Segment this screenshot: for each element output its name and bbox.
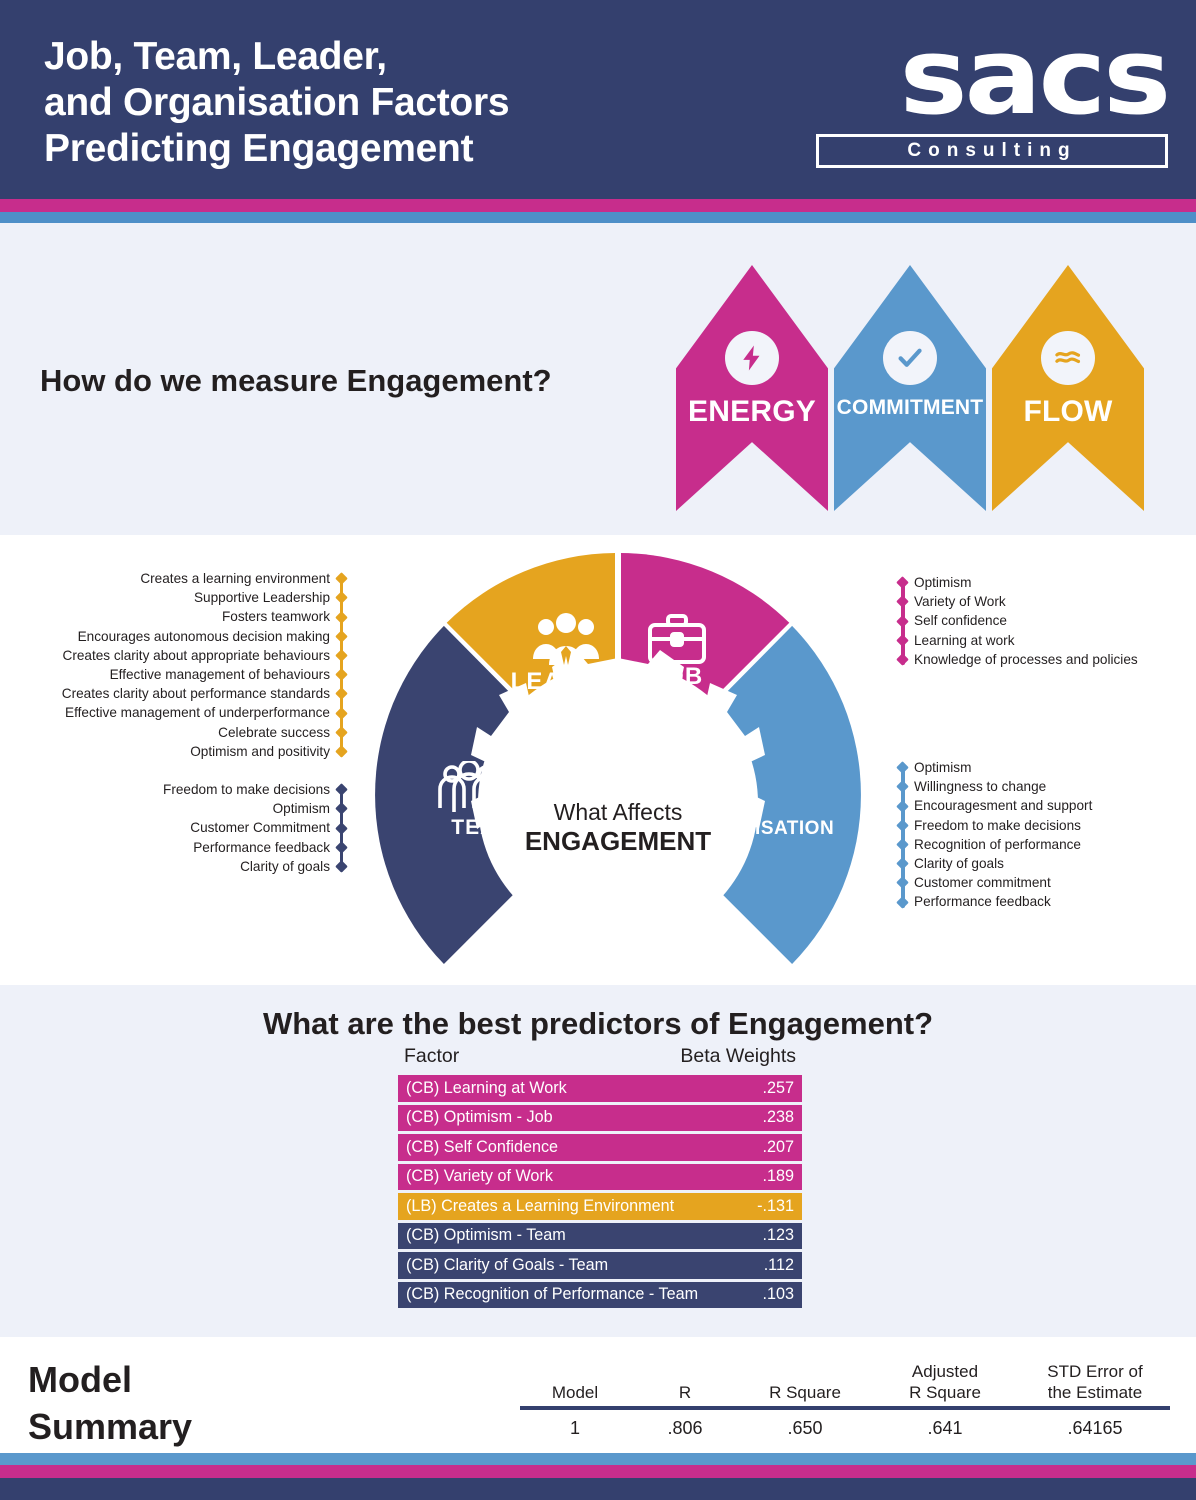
model-column-header: R bbox=[630, 1382, 740, 1403]
sacs-logo: sacs Consulting bbox=[816, 22, 1168, 182]
table-cell-factor: (CB) Optimism - Team bbox=[406, 1226, 566, 1245]
diamond-bullet-icon bbox=[335, 860, 348, 873]
list-item-label: Celebrate success bbox=[218, 723, 330, 742]
team-people-icon bbox=[434, 761, 504, 817]
organisation-factor-list: OptimismWillingness to changeEncouragesm… bbox=[898, 758, 1196, 912]
diamond-bullet-icon bbox=[896, 634, 909, 647]
dimension-energy-label: ENERGY bbox=[688, 397, 816, 427]
table-cell-factor: (CB) Optimism - Job bbox=[406, 1108, 553, 1127]
model-column-header: R Square bbox=[740, 1382, 870, 1403]
list-item-label: Customer commitment bbox=[914, 873, 1051, 892]
list-item-label: Optimism and positivity bbox=[190, 742, 330, 761]
model-value-cell: 1 bbox=[520, 1418, 630, 1439]
check-mark-icon bbox=[883, 331, 937, 385]
diamond-bullet-icon bbox=[335, 726, 348, 739]
list-item-label: Optimism bbox=[273, 799, 330, 818]
list-item: Variety of Work bbox=[898, 592, 1196, 611]
diamond-bullet-icon bbox=[335, 745, 348, 758]
diamond-bullet-icon bbox=[335, 802, 348, 815]
table-row: (CB) Variety of Work.189 bbox=[398, 1164, 802, 1191]
model-summary-label-line: Model bbox=[28, 1356, 308, 1403]
footer-stripe-blue bbox=[0, 1453, 1196, 1465]
diamond-bullet-icon bbox=[335, 611, 348, 624]
list-item-label: Freedom to make decisions bbox=[163, 780, 330, 799]
page-title-line: Job, Team, Leader, bbox=[44, 34, 744, 80]
predictors-table: Factor Beta Weights (CB) Learning at Wor… bbox=[398, 1045, 802, 1311]
diamond-bullet-icon bbox=[896, 800, 909, 813]
what-affects-engagement-section: Creates a learning environmentSupportive… bbox=[0, 535, 1196, 985]
list-item-label: Encourages autonomous decision making bbox=[78, 627, 330, 646]
logo-wordmark: sacs bbox=[788, 22, 1168, 132]
list-item-label: Creates a learning environment bbox=[140, 569, 330, 588]
measure-question: How do we measure Engagement? bbox=[40, 363, 640, 399]
list-item-label: Clarity of goals bbox=[240, 857, 330, 876]
best-predictors-section: What are the best predictors of Engageme… bbox=[0, 985, 1196, 1337]
model-value-cell: .806 bbox=[630, 1418, 740, 1439]
list-item-label: Optimism bbox=[914, 758, 971, 777]
header-stripe-magenta bbox=[0, 199, 1196, 212]
table-cell-beta: .238 bbox=[762, 1108, 794, 1127]
model-column-header-line: the Estimate bbox=[1020, 1382, 1170, 1403]
diamond-bullet-icon bbox=[335, 783, 348, 796]
model-summary-header-row: ModelRR SquareAdjustedR SquareSTD Error … bbox=[520, 1361, 1170, 1403]
table-cell-factor: (CB) Learning at Work bbox=[406, 1079, 567, 1098]
column-header-factor: Factor bbox=[404, 1045, 459, 1068]
diamond-bullet-icon bbox=[335, 668, 348, 681]
list-item-label: Performance feedback bbox=[914, 892, 1051, 911]
diamond-bullet-icon bbox=[335, 591, 348, 604]
list-item-label: Learning at work bbox=[914, 631, 1015, 650]
model-summary-value-row: 1.806.650.641.64165 bbox=[520, 1418, 1170, 1439]
table-cell-beta: .103 bbox=[762, 1285, 794, 1304]
dimension-commitment-label: COMMITMENT bbox=[837, 397, 984, 418]
list-item: Willingness to change bbox=[898, 777, 1196, 796]
diamond-bullet-icon bbox=[335, 630, 348, 643]
list-item: Creates clarity about appropriate behavi… bbox=[0, 646, 346, 665]
diamond-bullet-icon bbox=[896, 876, 909, 889]
list-item-label: Effective management of behaviours bbox=[110, 665, 330, 684]
list-item-label: Variety of Work bbox=[914, 592, 1006, 611]
list-item-label: Creates clarity about performance standa… bbox=[62, 684, 330, 703]
list-item: Optimism bbox=[0, 799, 346, 818]
table-cell-factor: (CB) Recognition of Performance - Team bbox=[406, 1285, 698, 1304]
table-row: (LB) Creates a Learning Environment-.131 bbox=[398, 1193, 802, 1220]
diamond-bullet-icon bbox=[896, 857, 909, 870]
model-summary-label: ModelSummary bbox=[28, 1356, 308, 1450]
lightning-bolt-icon bbox=[725, 331, 779, 385]
table-row: (CB) Clarity of Goals - Team.112 bbox=[398, 1252, 802, 1279]
list-item: Self confidence bbox=[898, 611, 1196, 630]
list-item-label: Self confidence bbox=[914, 611, 1007, 630]
list-item: Performance feedback bbox=[0, 838, 346, 857]
table-row: (CB) Self Confidence.207 bbox=[398, 1134, 802, 1161]
model-column-header-line: R Square bbox=[740, 1382, 870, 1403]
diamond-bullet-icon bbox=[896, 838, 909, 851]
model-summary-label-line: Summary bbox=[28, 1403, 308, 1450]
list-item-label: Recognition of performance bbox=[914, 835, 1081, 854]
donut-label-job: JOB bbox=[622, 663, 732, 691]
table-cell-beta: .257 bbox=[762, 1079, 794, 1098]
model-column-header: Model bbox=[520, 1382, 630, 1403]
diamond-bullet-icon bbox=[896, 653, 909, 666]
table-cell-beta: .189 bbox=[762, 1167, 794, 1186]
model-column-header-line: R Square bbox=[870, 1382, 1020, 1403]
leader-factor-list: Creates a learning environmentSupportive… bbox=[0, 569, 346, 761]
list-item: Learning at work bbox=[898, 631, 1196, 650]
briefcase-icon bbox=[646, 611, 708, 667]
diamond-bullet-icon bbox=[896, 576, 909, 589]
page-title-line: and Organisation Factors bbox=[44, 80, 744, 126]
table-cell-beta: .207 bbox=[762, 1138, 794, 1157]
table-row: (CB) Learning at Work.257 bbox=[398, 1075, 802, 1102]
list-item-label: Encouragesment and support bbox=[914, 796, 1092, 815]
team-factor-list: Freedom to make decisionsOptimismCustome… bbox=[0, 780, 346, 876]
page-title: Job, Team, Leader,and Organisation Facto… bbox=[44, 34, 744, 172]
list-item-label: Fosters teamwork bbox=[222, 607, 330, 626]
dimension-energy: ENERGY bbox=[676, 265, 828, 511]
table-cell-factor: (LB) Creates a Learning Environment bbox=[406, 1197, 674, 1216]
model-summary-rule bbox=[520, 1406, 1170, 1410]
donut-label-team: TEAM bbox=[428, 816, 538, 840]
model-value-cell: .650 bbox=[740, 1418, 870, 1439]
list-item: Effective management of behaviours bbox=[0, 665, 346, 684]
list-item-label: Clarity of goals bbox=[914, 854, 1004, 873]
engagement-donut-diagram: LEADER JOB TEAM bbox=[358, 535, 878, 965]
engagement-dimensions: ENERGY COMMITMENT FLOW bbox=[676, 265, 1176, 511]
diamond-bullet-icon bbox=[335, 707, 348, 720]
waves-icon bbox=[1041, 331, 1095, 385]
list-item: Knowledge of processes and policies bbox=[898, 650, 1196, 669]
page-title-line: Predicting Engagement bbox=[44, 126, 744, 172]
list-item: Fosters teamwork bbox=[0, 607, 346, 626]
list-item: Recognition of performance bbox=[898, 835, 1196, 854]
table-cell-beta: -.131 bbox=[757, 1197, 794, 1216]
list-item: Optimism and positivity bbox=[0, 742, 346, 761]
list-item: Creates clarity about performance standa… bbox=[0, 684, 346, 703]
list-item: Optimism bbox=[898, 573, 1196, 592]
page-header: Job, Team, Leader,and Organisation Facto… bbox=[0, 0, 1196, 199]
footer-stripe-navy bbox=[0, 1478, 1196, 1500]
table-cell-factor: (CB) Variety of Work bbox=[406, 1167, 553, 1186]
table-row: (CB) Optimism - Job.238 bbox=[398, 1105, 802, 1132]
table-cell-beta: .123 bbox=[762, 1226, 794, 1245]
list-item-label: Customer Commitment bbox=[190, 818, 330, 837]
model-column-header-line: Adjusted bbox=[870, 1361, 1020, 1382]
model-column-header-line: STD Error of bbox=[1020, 1361, 1170, 1382]
list-item: Encouragesment and support bbox=[898, 796, 1196, 815]
list-item-label: Knowledge of processes and policies bbox=[914, 650, 1138, 669]
model-value-cell: .641 bbox=[870, 1418, 1020, 1439]
list-item: Creates a learning environment bbox=[0, 569, 346, 588]
list-item-label: Performance feedback bbox=[193, 838, 330, 857]
model-column-header-line: Model bbox=[520, 1382, 630, 1403]
diamond-bullet-icon bbox=[896, 761, 909, 774]
list-item: Customer commitment bbox=[898, 873, 1196, 892]
list-item: Freedom to make decisions bbox=[898, 816, 1196, 835]
list-item-label: Freedom to make decisions bbox=[914, 816, 1081, 835]
predictors-table-header: Factor Beta Weights bbox=[398, 1045, 802, 1075]
list-item: Clarity of goals bbox=[898, 854, 1196, 873]
list-item-label: Willingness to change bbox=[914, 777, 1046, 796]
list-item-label: Optimism bbox=[914, 573, 971, 592]
model-column-header: AdjustedR Square bbox=[870, 1361, 1020, 1403]
table-row: (CB) Recognition of Performance - Team.1… bbox=[398, 1282, 802, 1309]
table-cell-factor: (CB) Self Confidence bbox=[406, 1138, 558, 1157]
list-item: Performance feedback bbox=[898, 892, 1196, 911]
list-item-label: Supportive Leadership bbox=[194, 588, 330, 607]
model-value-cell: .64165 bbox=[1020, 1418, 1170, 1439]
table-cell-factor: (CB) Clarity of Goals - Team bbox=[406, 1256, 608, 1275]
people-group-icon bbox=[530, 613, 602, 667]
diamond-bullet-icon bbox=[896, 615, 909, 628]
donut-label-leader: LEADER bbox=[498, 668, 628, 696]
dimension-commitment: COMMITMENT bbox=[834, 265, 986, 511]
list-item-label: Effective management of underperformance bbox=[65, 703, 330, 722]
diamond-bullet-icon bbox=[896, 780, 909, 793]
list-item: Optimism bbox=[898, 758, 1196, 777]
logo-subtitle-box: Consulting bbox=[816, 134, 1168, 168]
table-row: (CB) Optimism - Team.123 bbox=[398, 1223, 802, 1250]
diamond-bullet-icon bbox=[896, 595, 909, 608]
logo-subtitle: Consulting bbox=[907, 140, 1076, 162]
office-building-icon bbox=[678, 731, 740, 803]
list-item: Effective management of underperformance bbox=[0, 703, 346, 722]
footer-stripe-magenta bbox=[0, 1465, 1196, 1478]
list-item: Customer Commitment bbox=[0, 818, 346, 837]
column-header-beta: Beta Weights bbox=[680, 1045, 796, 1068]
predictors-title: What are the best predictors of Engageme… bbox=[0, 1006, 1196, 1042]
measure-engagement-section: How do we measure Engagement? ENERGY COM… bbox=[0, 223, 1196, 535]
header-stripe-blue bbox=[0, 212, 1196, 223]
list-item-label: Creates clarity about appropriate behavi… bbox=[63, 646, 331, 665]
diamond-bullet-icon bbox=[335, 649, 348, 662]
diamond-bullet-icon bbox=[335, 841, 348, 854]
dimension-flow-label: FLOW bbox=[1023, 397, 1112, 427]
model-summary-table: ModelRR SquareAdjustedR SquareSTD Error … bbox=[520, 1361, 1170, 1439]
list-item: Encourages autonomous decision making bbox=[0, 627, 346, 646]
diamond-bullet-icon bbox=[335, 572, 348, 585]
table-cell-beta: .112 bbox=[764, 1256, 794, 1275]
list-item: Freedom to make decisions bbox=[0, 780, 346, 799]
diamond-bullet-icon bbox=[335, 687, 348, 700]
model-column-header-line: R bbox=[630, 1382, 740, 1403]
list-item: Celebrate success bbox=[0, 723, 346, 742]
list-item: Clarity of goals bbox=[0, 857, 346, 876]
job-factor-list: OptimismVariety of WorkSelf confidenceLe… bbox=[898, 573, 1196, 669]
dimension-flow: FLOW bbox=[992, 265, 1144, 511]
model-column-header: STD Error ofthe Estimate bbox=[1020, 1361, 1170, 1403]
diamond-bullet-icon bbox=[335, 822, 348, 835]
diamond-bullet-icon bbox=[896, 819, 909, 832]
donut-label-organisation: ORGANISATION bbox=[668, 818, 848, 840]
list-item: Supportive Leadership bbox=[0, 588, 346, 607]
diamond-bullet-icon bbox=[896, 896, 909, 909]
